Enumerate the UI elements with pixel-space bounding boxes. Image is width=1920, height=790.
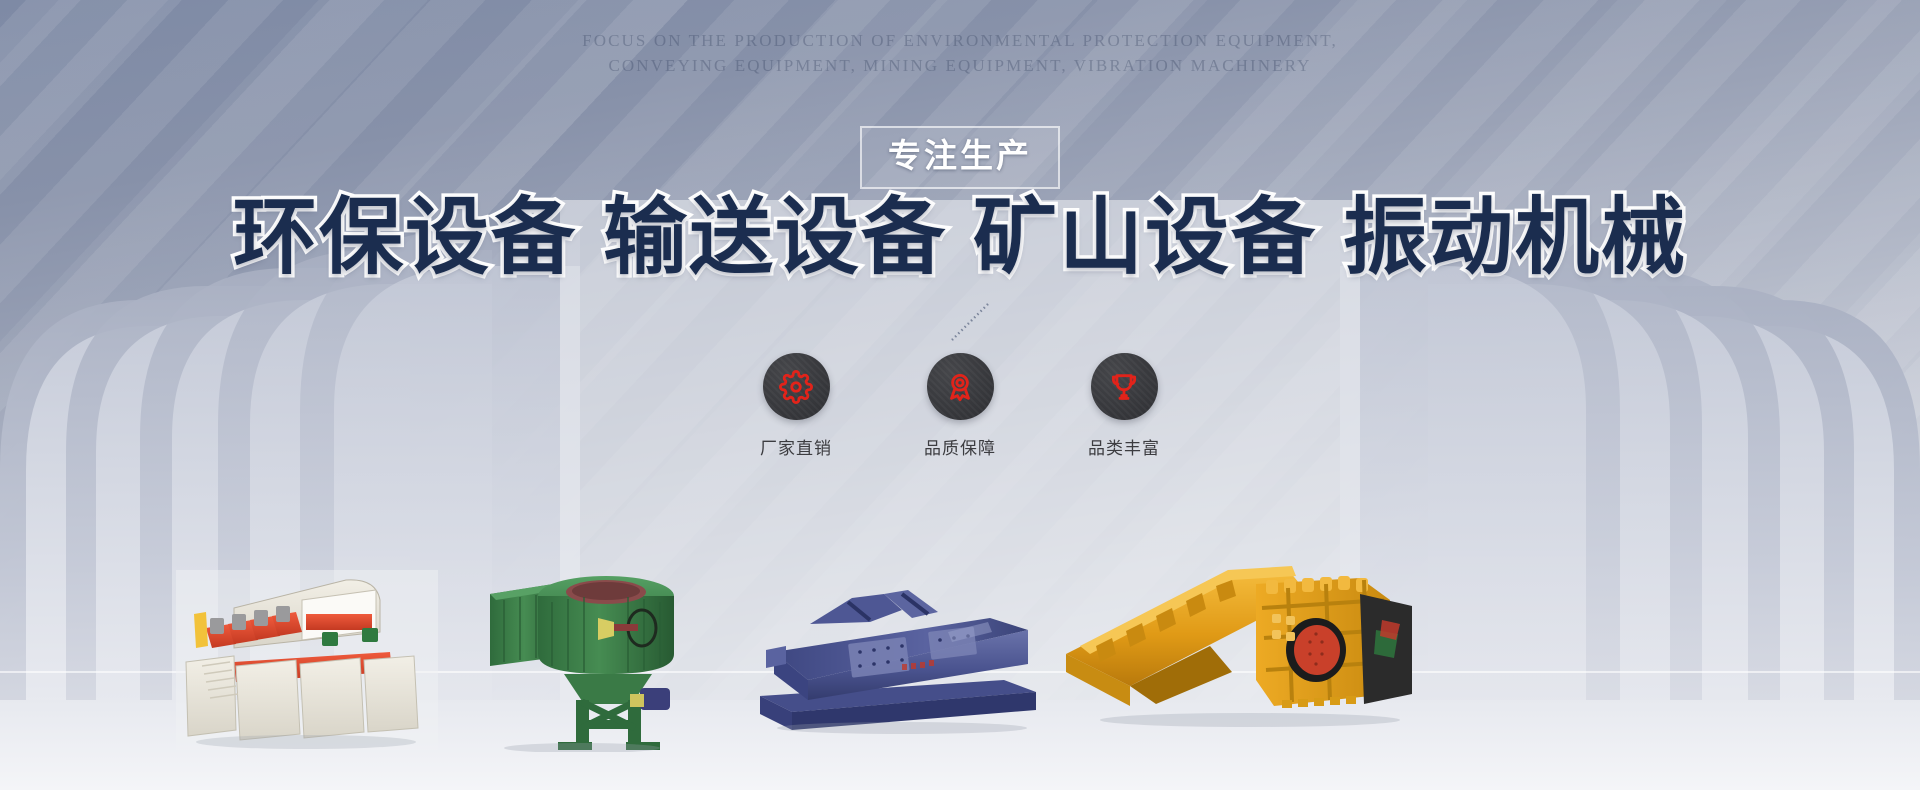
machine-image-conveyor — [176, 570, 438, 750]
boxed-label: 专注生产 — [860, 126, 1060, 189]
machine-image-disc-feeder — [480, 570, 684, 752]
boxed-label-wrapper: 专注生产 — [0, 126, 1920, 189]
feature-label: 品质保障 — [919, 434, 1001, 459]
medal-icon — [943, 370, 977, 404]
feature-item-rich-variety[interactable]: 品类丰富 — [1083, 353, 1165, 459]
feature-list: 厂家直销 品质保障 — [0, 353, 1920, 459]
dotted-slash-decoration — [948, 300, 992, 344]
hero-banner: FOCUS ON THE PRODUCTION OF ENVIRONMENTAL… — [0, 0, 1920, 790]
headline-part-1: 环保设备 — [233, 190, 577, 284]
machine-image-row — [0, 460, 1920, 790]
page-title: 环保设备输送设备矿山设备振动机械 — [0, 190, 1920, 284]
trophy-icon — [1107, 370, 1141, 404]
headline-part-3: 矿山设备 — [973, 190, 1317, 284]
feature-icon-circle — [927, 353, 994, 420]
english-subtitle: FOCUS ON THE PRODUCTION OF ENVIRONMENTAL… — [0, 28, 1920, 78]
feature-label: 品类丰富 — [1083, 434, 1165, 459]
headline-part-2: 输送设备 — [603, 190, 947, 284]
feature-icon-circle — [1091, 353, 1158, 420]
feature-item-quality-guarantee[interactable]: 品质保障 — [919, 353, 1001, 459]
feature-item-factory-direct[interactable]: 厂家直销 — [755, 353, 837, 459]
feature-icon-circle — [763, 353, 830, 420]
feature-label: 厂家直销 — [755, 434, 837, 459]
machine-image-vibrating-screen — [752, 588, 1042, 738]
gear-icon — [779, 370, 813, 404]
machine-image-vibrating-feeder — [1060, 554, 1420, 734]
headline-part-4: 振动机械 — [1343, 190, 1687, 284]
